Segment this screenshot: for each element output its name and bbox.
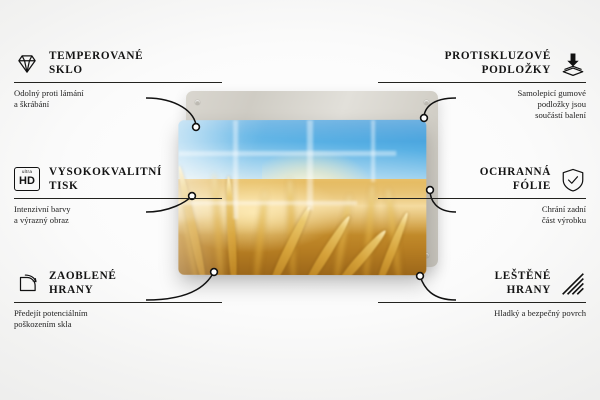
feature-desc-line1: Předejít potenciálním [14,308,222,319]
feature-title: Ochranná fólie [480,166,551,193]
feature-title-line1: Ochranná [480,166,551,180]
feature-desc-line1: Chrání zadní [378,204,586,215]
feature-description: Chrání zadní část výrobku [378,199,586,226]
feature-title-line1: Protiskluzové [445,50,551,64]
rounded-corner-icon [14,271,40,297]
feature-title-line2: sklo [49,64,143,78]
feature-title-line2: hrany [495,284,551,298]
feature-description: Odolný proti lámání a škrábání [14,83,222,110]
feature-title-line1: Temperované [49,50,143,64]
feature-rounded-edges: Zaoblené hrany Předejít potenciálním poš… [14,270,222,330]
feature-title-line2: tisk [49,180,162,194]
feature-tempered-glass: Temperované sklo Odolný proti lámání a š… [14,50,222,110]
feature-title: Vysokokvalitní tisk [49,166,162,193]
feature-desc-line1: Odolný proti lámání [14,88,222,99]
feature-desc-line1: Hladký a bezpečný povrch [378,308,586,319]
feature-title-line1: Vysokokvalitní [49,166,162,180]
feature-title: Temperované sklo [49,50,143,77]
feature-description: Samolepicí gumové podložky jsou součástí… [378,83,586,121]
feature-title-line1: Leštěné [495,270,551,284]
feature-protective-film: Ochranná fólie Chrání zadní část výrobku [378,166,586,226]
ultra-hd-icon-main-label: HD [19,176,35,187]
feature-desc-line2: a výrazný obraz [14,215,222,226]
diagonal-lines-icon [560,271,586,297]
feature-high-quality-print: ultra HD Vysokokvalitní tisk Intenzivní … [14,166,222,226]
feature-desc-line3: součástí balení [378,110,586,121]
feature-description: Předejít potenciálním poškozením skla [14,303,222,330]
feature-polished-edges: Leštěné hrany Hladký a bezpečný povrch [378,270,586,319]
feature-title-line2: podložky [445,64,551,78]
feature-title: Protiskluzové podložky [445,50,551,77]
ultra-hd-icon: ultra HD [14,167,40,193]
feature-desc-line1: Samolepicí gumové [378,88,586,99]
feature-title-line2: fólie [480,180,551,194]
feature-description: Intenzivní barvy a výrazný obraz [14,199,222,226]
feature-desc-line2: část výrobku [378,215,586,226]
feature-desc-line2: podložky jsou [378,99,586,110]
stacked-pads-arrow-icon [560,51,586,77]
diamond-icon [14,51,40,77]
feature-title: Leštěné hrany [495,270,551,297]
feature-desc-line2: poškozením skla [14,319,222,330]
feature-desc-line2: a škrábání [14,99,222,110]
feature-description: Hladký a bezpečný povrch [378,303,586,319]
feature-desc-line1: Intenzivní barvy [14,204,222,215]
shield-check-icon [560,167,586,193]
feature-title-line1: Zaoblené [49,270,117,284]
feature-title: Zaoblené hrany [49,270,117,297]
feature-anti-slip-pads: Protiskluzové podložky Samolepicí gumové… [378,50,586,121]
feature-title-line2: hrany [49,284,117,298]
